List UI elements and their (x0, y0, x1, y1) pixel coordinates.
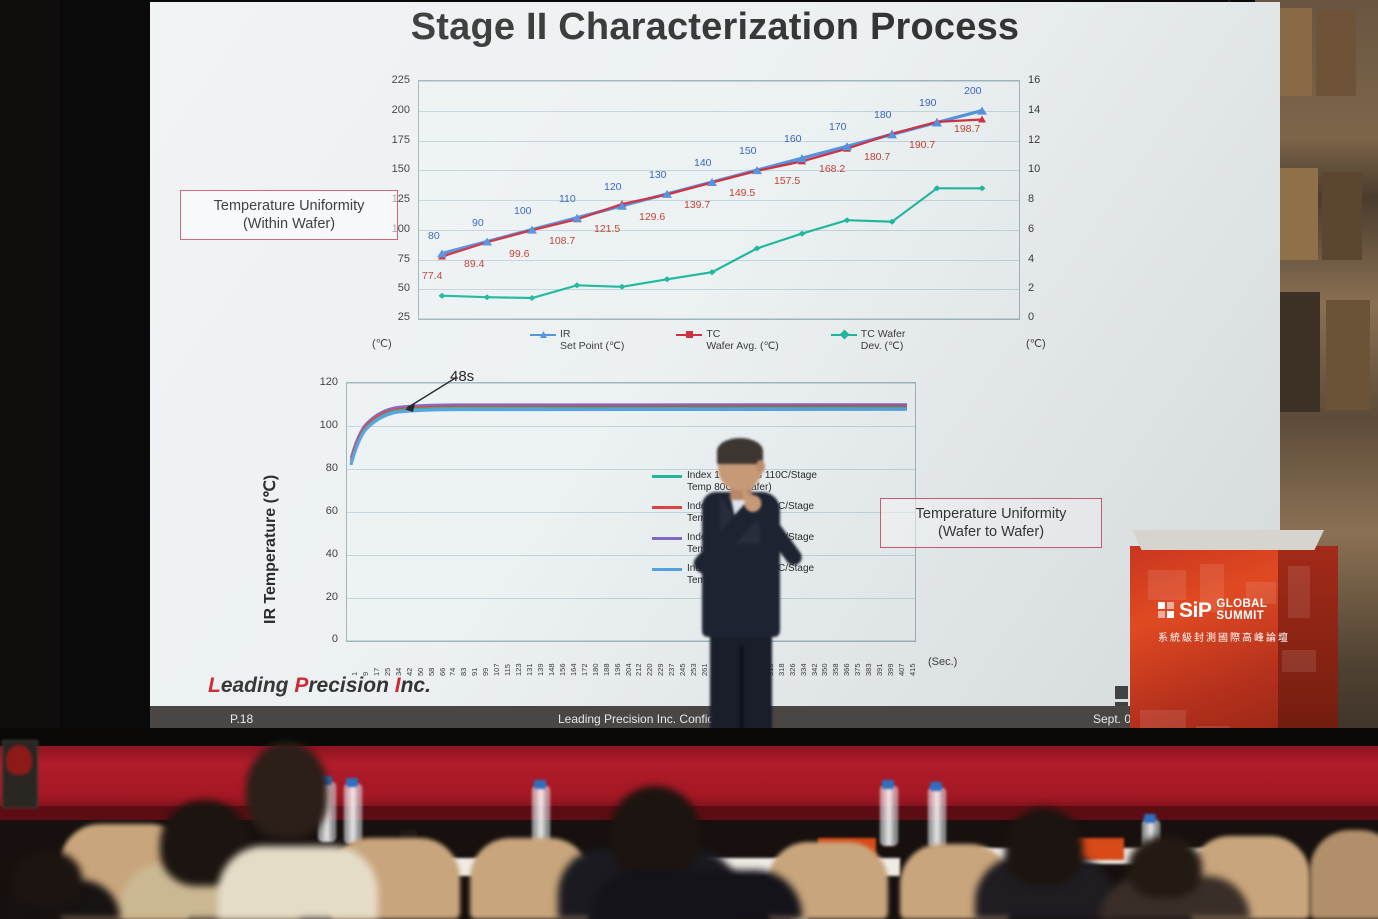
datalabel-ir: 110 (559, 193, 576, 205)
audience-member-head (610, 786, 700, 878)
legend-line1: TC (706, 328, 720, 340)
series-ir-markers (437, 107, 987, 258)
top-chart-ytick: 50 (366, 282, 410, 294)
water-bottle (532, 786, 550, 846)
callout-line2: (Wafer to Wafer) (891, 523, 1091, 541)
bottom-chart-xtick: 180 (591, 663, 600, 676)
footer-page-number: P.18 (230, 712, 253, 726)
top-chart-ytick: 75 (366, 253, 410, 265)
logo-rest1: eading (221, 674, 295, 697)
datalabel-tc: 108.7 (549, 235, 575, 247)
series-index1 (351, 408, 907, 463)
bottom-chart-xtick: 172 (580, 663, 589, 676)
callout-line1: Temperature Uniformity (891, 505, 1091, 523)
legend-label-tc: TC Wafer Avg. (℃) (706, 328, 778, 352)
top-chart-y2tick: 8 (1028, 193, 1034, 205)
datalabel-ir: 180 (874, 109, 892, 121)
bottom-chart-xtick: 366 (842, 663, 851, 676)
top-chart-y2tick: 2 (1028, 282, 1034, 294)
bottom-chart-ytick: 80 (290, 462, 338, 474)
wood-panel (1326, 300, 1370, 410)
datalabel-tc: 190.7 (909, 139, 935, 151)
stage-side-box (2, 740, 38, 808)
audience-member-head (12, 850, 82, 906)
bottom-chart-xtick: 391 (875, 663, 884, 676)
bottom-chart-xtick: 350 (820, 663, 829, 676)
legend-item-tc-wafer-dev[interactable]: TC Wafer Dev. (℃) (831, 328, 906, 352)
bottom-chart-ytick: 120 (290, 376, 338, 388)
top-chart-y2tick: 10 (1028, 163, 1040, 175)
audience-member-body (218, 846, 378, 919)
datalabel-tc: 77.4 (422, 270, 442, 282)
series-index2 (351, 406, 907, 461)
legend-label-dev: TC Wafer Dev. (℃) (861, 328, 906, 352)
series-dev-markers (439, 185, 986, 301)
bottom-chart-xtick: 99 (481, 668, 490, 676)
legend-line2: Wafer Avg. (℃) (706, 340, 778, 352)
bottom-chart-xtick: 375 (853, 663, 862, 676)
audience-chair (1310, 830, 1378, 919)
legend-marker-index1-icon (652, 475, 682, 478)
bottle-cap (882, 780, 894, 789)
top-chart-y2axis-unit: (℃) (1026, 337, 1046, 350)
legend-line2: Set Point (℃) (560, 340, 624, 352)
legend-marker-index4-icon (652, 568, 682, 571)
top-chart-y2tick: 12 (1028, 134, 1040, 146)
logo-letter-p: P (294, 674, 308, 697)
top-chart-plot-area (418, 80, 1020, 320)
bottom-chart-xtick: 123 (514, 663, 523, 676)
bottom-chart-xtick: 148 (547, 663, 556, 676)
top-chart-y2tick: 14 (1028, 104, 1040, 116)
bottom-chart-xtick: 74 (448, 668, 457, 676)
bottle-cap (534, 780, 546, 789)
series-index4 (351, 409, 907, 465)
legend-marker-index3-icon (652, 537, 682, 540)
datalabel-ir: 160 (784, 133, 802, 145)
audience-member-head (1128, 836, 1202, 898)
bottom-chart-xtick: 91 (470, 668, 479, 676)
callout-line1: Temperature Uniformity (191, 197, 387, 215)
datalabel-tc: 129.6 (639, 211, 665, 223)
legend-marker-index2-icon (652, 506, 682, 509)
bottom-chart-xtick: 204 (624, 663, 633, 676)
bottom-chart-xaxis-unit: (Sec.) (928, 656, 957, 668)
legend-marker-ir-icon (530, 330, 556, 340)
bottom-chart-xtick: 156 (558, 663, 567, 676)
datalabel-ir: 140 (694, 157, 712, 169)
datalabel-ir: 100 (514, 205, 532, 217)
bottom-chart-xtick: 358 (831, 663, 840, 676)
datalabel-tc: 89.4 (464, 258, 484, 270)
bottom-chart-xtick: 383 (864, 663, 873, 676)
podium-global-summit: GLOBAL SUMMIT (1216, 598, 1267, 622)
bottom-chart-xtick: 407 (897, 663, 906, 676)
bottom-chart-xtick: 139 (536, 663, 545, 676)
logo-rest2: recision (308, 674, 394, 697)
bottom-chart-ytick: 40 (290, 548, 338, 560)
bottom-chart-xtick: 415 (908, 663, 917, 676)
legend-line1: IR (560, 328, 571, 340)
water-bottle (928, 788, 946, 848)
bottom-chart-ytick: 0 (290, 633, 338, 645)
bottom-chart-yaxis-title: IR Temperature (℃) (260, 475, 280, 624)
datalabel-tc: 180.7 (864, 151, 890, 163)
datalabel-ir: 130 (649, 169, 667, 181)
audience-member-head (1005, 808, 1083, 886)
bottom-chart-ytick: 100 (290, 419, 338, 431)
bottom-chart-xtick: 83 (459, 668, 468, 676)
top-chart-ytick: 25 (366, 311, 410, 323)
legend-line1: TC Wafer (861, 328, 906, 340)
datalabel-tc: 121.5 (594, 223, 620, 235)
podium-top-surface (1132, 530, 1324, 550)
series-index3 (351, 404, 907, 458)
top-chart-legend: IR Set Point (℃) TC Wafer Avg. (℃) (530, 328, 905, 352)
datalabel-tc: 149.5 (729, 187, 755, 199)
podium-line2: SUMMIT (1216, 610, 1264, 622)
bottom-chart-xtick: 245 (678, 663, 687, 676)
projection-screen-frame: Stage II Characterization Process (60, 0, 1228, 740)
bottom-chart-xtick: 229 (656, 663, 665, 676)
page-title: Stage II Characterization Process (150, 6, 1280, 49)
podium-line1: GLOBAL (1216, 598, 1267, 610)
datalabel-tc: 99.6 (509, 248, 529, 260)
audience-member-head (246, 742, 328, 838)
podium-chinese-subtitle: 系統級封測國際高峰論壇 (1158, 629, 1308, 644)
top-chart-y2tick: 4 (1028, 253, 1034, 265)
wood-panel (1322, 172, 1362, 260)
bottom-chart-xtick: 399 (886, 663, 895, 676)
podium-brand: SiP (1179, 600, 1211, 621)
bottom-chart-ytick: 60 (290, 505, 338, 517)
bottom-chart-xtick: 115 (503, 664, 512, 676)
series-tc-wafer-avg (442, 120, 982, 257)
bottle-cap (346, 778, 358, 787)
datalabel-ir: 200 (964, 85, 982, 97)
top-chart-y2tick: 0 (1028, 311, 1034, 323)
legend-item-ir-set-point[interactable]: IR Set Point (℃) (530, 328, 624, 352)
company-logo: Leading Precision Inc. (208, 674, 431, 698)
callout-wafer-to-wafer: Temperature Uniformity (Wafer to Wafer) (880, 498, 1102, 548)
legend-marker-tc-icon (676, 330, 702, 340)
bottom-chart-xtick: 66 (438, 668, 447, 676)
legend-marker-dev-icon (831, 330, 857, 340)
datalabel-tc: 157.5 (774, 175, 800, 187)
callout-within-wafer: Temperature Uniformity (Within Wafer) (180, 190, 398, 240)
legend-line2: Dev. (℃) (861, 340, 904, 352)
bottom-chart-xtick: 188 (602, 663, 611, 676)
wood-panel (1316, 10, 1356, 96)
legend-item-tc-wafer-avg[interactable]: TC Wafer Avg. (℃) (676, 328, 778, 352)
datalabel-tc: 198.7 (954, 123, 980, 135)
datalabel-ir: 90 (472, 217, 484, 229)
water-bottle (880, 786, 898, 846)
bottom-chart-xtick: 196 (613, 663, 622, 676)
annotation-48s-label: 48s (450, 368, 474, 385)
logo-letter-l: L (208, 674, 221, 697)
bottom-chart-xtick: 164 (569, 663, 578, 676)
legend-label-ir: IR Set Point (℃) (560, 328, 624, 352)
water-bottle (344, 784, 362, 844)
podium-branding: SiP GLOBAL SUMMIT 系統級封測國際高峰論壇 (1158, 598, 1308, 644)
sip-logo-squares-icon (1158, 602, 1174, 618)
top-chart-ytick: 200 (366, 104, 410, 116)
datalabel-tc: 139.7 (684, 199, 710, 211)
top-chart-y2tick: 16 (1028, 74, 1040, 86)
bottom-chart-xtick: 220 (645, 663, 654, 676)
bottom-chart-ytick: 20 (290, 591, 338, 603)
logo-rest3: nc. (401, 674, 431, 697)
bottle-cap (1144, 814, 1156, 823)
bottom-chart-xtick: 131 (525, 663, 534, 676)
bottom-chart-xtick: 342 (810, 663, 819, 676)
top-chart-y2tick: 6 (1028, 223, 1034, 235)
datalabel-tc: 168.2 (819, 163, 845, 175)
top-chart-ytick: 175 (366, 134, 410, 146)
audience-member-body (592, 870, 802, 919)
callout-line2: (Within Wafer) (191, 215, 387, 233)
bottom-chart-xtick: 237 (667, 663, 676, 676)
top-chart-ytick: 150 (366, 163, 410, 175)
datalabel-ir: 190 (919, 97, 937, 109)
bottle-cap (930, 782, 942, 791)
datalabel-ir: 170 (829, 121, 847, 133)
datalabel-ir: 120 (604, 181, 622, 193)
top-chart-ytick: 225 (366, 74, 410, 86)
conference-room-scene: Stage II Characterization Process (0, 0, 1378, 919)
series-tc-markers (438, 116, 986, 260)
top-chart-yaxis-unit: (℃) (372, 337, 392, 350)
top-chart-series-svg (419, 81, 1019, 319)
bottom-chart-xtick: 107 (492, 663, 501, 676)
datalabel-ir: 80 (428, 230, 440, 242)
bottom-chart-xaxis-ticks: 1917253442505866748391991071151231311391… (346, 646, 914, 680)
datalabel-ir: 150 (739, 145, 757, 157)
bottom-chart-xtick: 212 (634, 663, 643, 676)
